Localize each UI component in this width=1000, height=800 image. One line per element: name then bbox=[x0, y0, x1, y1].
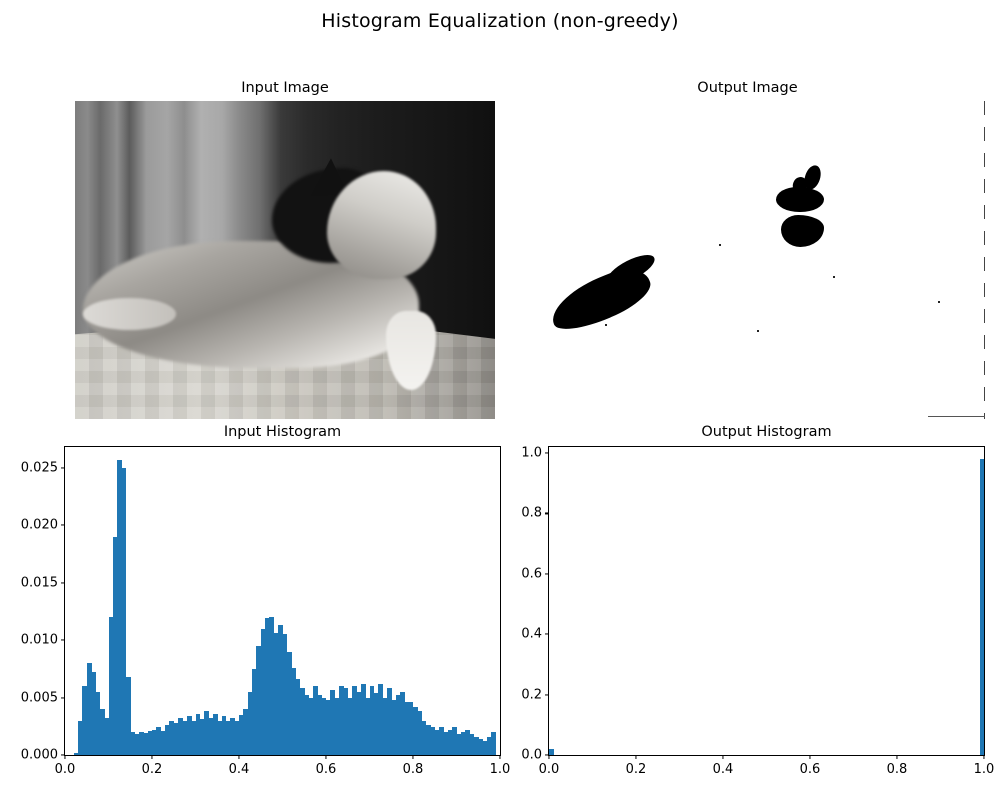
y-axis-tick-mark bbox=[61, 697, 65, 698]
output-image-title: Output Image bbox=[510, 80, 985, 96]
y-axis-tick-mark bbox=[61, 467, 65, 468]
y-axis-tick-label: 0.005 bbox=[21, 690, 58, 705]
y-axis-tick-label: 0.025 bbox=[21, 460, 58, 475]
x-axis-tick-mark bbox=[722, 755, 723, 759]
bottom-edge-artifact bbox=[928, 416, 985, 417]
x-axis-tick-mark bbox=[151, 755, 152, 759]
x-axis-tick-mark bbox=[896, 755, 897, 759]
x-axis-tick-label: 0.8 bbox=[403, 762, 424, 777]
black-blob-center bbox=[781, 215, 824, 247]
input-image bbox=[75, 101, 495, 419]
figure-suptitle: Histogram Equalization (non-greedy) bbox=[0, 10, 1000, 32]
y-axis-tick-label: 1.0 bbox=[521, 446, 542, 461]
y-axis-tick-mark bbox=[545, 513, 549, 514]
x-axis-tick-mark bbox=[635, 755, 636, 759]
y-axis-tick-label: 0.8 bbox=[521, 506, 542, 521]
y-axis-tick-label: 0.0 bbox=[521, 748, 542, 763]
y-axis-tick-label: 0.000 bbox=[21, 748, 58, 763]
x-axis-tick-mark bbox=[64, 755, 65, 759]
x-axis-tick-mark bbox=[983, 755, 984, 759]
output-histogram-axes: 0.00.20.40.60.81.00.00.20.40.60.81.0 bbox=[548, 446, 985, 756]
x-axis-tick-label: 0.4 bbox=[229, 762, 250, 777]
cat-tail bbox=[83, 298, 175, 330]
matplotlib-figure: Histogram Equalization (non-greedy) Inpu… bbox=[0, 0, 1000, 800]
y-axis-tick-label: 0.6 bbox=[521, 566, 542, 581]
y-axis-tick-mark bbox=[61, 525, 65, 526]
output-histogram-ticks: 0.00.20.40.60.81.00.00.20.40.60.81.0 bbox=[549, 447, 984, 755]
y-axis-tick-mark bbox=[545, 452, 549, 453]
x-axis-tick-label: 0.6 bbox=[316, 762, 337, 777]
x-axis-tick-label: 0.0 bbox=[539, 762, 560, 777]
y-axis-tick-label: 0.2 bbox=[521, 687, 542, 702]
speck-e bbox=[605, 324, 607, 326]
x-axis-tick-mark bbox=[548, 755, 549, 759]
output-image bbox=[510, 101, 985, 419]
x-axis-tick-mark bbox=[499, 755, 500, 759]
x-axis-tick-label: 1.0 bbox=[490, 762, 511, 777]
input-histogram-ticks: 0.0000.0050.0100.0150.0200.0250.00.20.40… bbox=[65, 447, 500, 755]
output-histogram-title: Output Histogram bbox=[548, 424, 985, 440]
y-axis-tick-label: 0.010 bbox=[21, 633, 58, 648]
y-axis-tick-mark bbox=[545, 694, 549, 695]
speck-c bbox=[833, 276, 835, 278]
x-axis-tick-label: 0.2 bbox=[626, 762, 647, 777]
x-axis-tick-label: 0.6 bbox=[800, 762, 821, 777]
x-axis-tick-mark bbox=[412, 755, 413, 759]
input-histogram-title: Input Histogram bbox=[64, 424, 501, 440]
y-axis-tick-label: 0.020 bbox=[21, 518, 58, 533]
x-axis-tick-label: 0.2 bbox=[142, 762, 163, 777]
x-axis-tick-mark bbox=[325, 755, 326, 759]
speck-d bbox=[938, 301, 940, 303]
x-axis-tick-mark bbox=[809, 755, 810, 759]
y-axis-tick-label: 0.015 bbox=[21, 575, 58, 590]
x-axis-tick-label: 0.0 bbox=[55, 762, 76, 777]
x-axis-tick-label: 0.8 bbox=[887, 762, 908, 777]
x-axis-tick-label: 0.4 bbox=[713, 762, 734, 777]
y-axis-tick-mark bbox=[545, 573, 549, 574]
input-histogram-axes: 0.0000.0050.0100.0150.0200.0250.00.20.40… bbox=[64, 446, 501, 756]
x-axis-tick-label: 1.0 bbox=[974, 762, 995, 777]
speck-b bbox=[757, 330, 759, 332]
y-axis-tick-mark bbox=[545, 634, 549, 635]
y-axis-tick-mark bbox=[61, 582, 65, 583]
right-edge-artifact bbox=[984, 101, 985, 419]
x-axis-tick-mark bbox=[238, 755, 239, 759]
input-image-title: Input Image bbox=[75, 80, 495, 96]
speck-a bbox=[719, 244, 721, 246]
y-axis-tick-label: 0.4 bbox=[521, 627, 542, 642]
y-axis-tick-mark bbox=[61, 640, 65, 641]
